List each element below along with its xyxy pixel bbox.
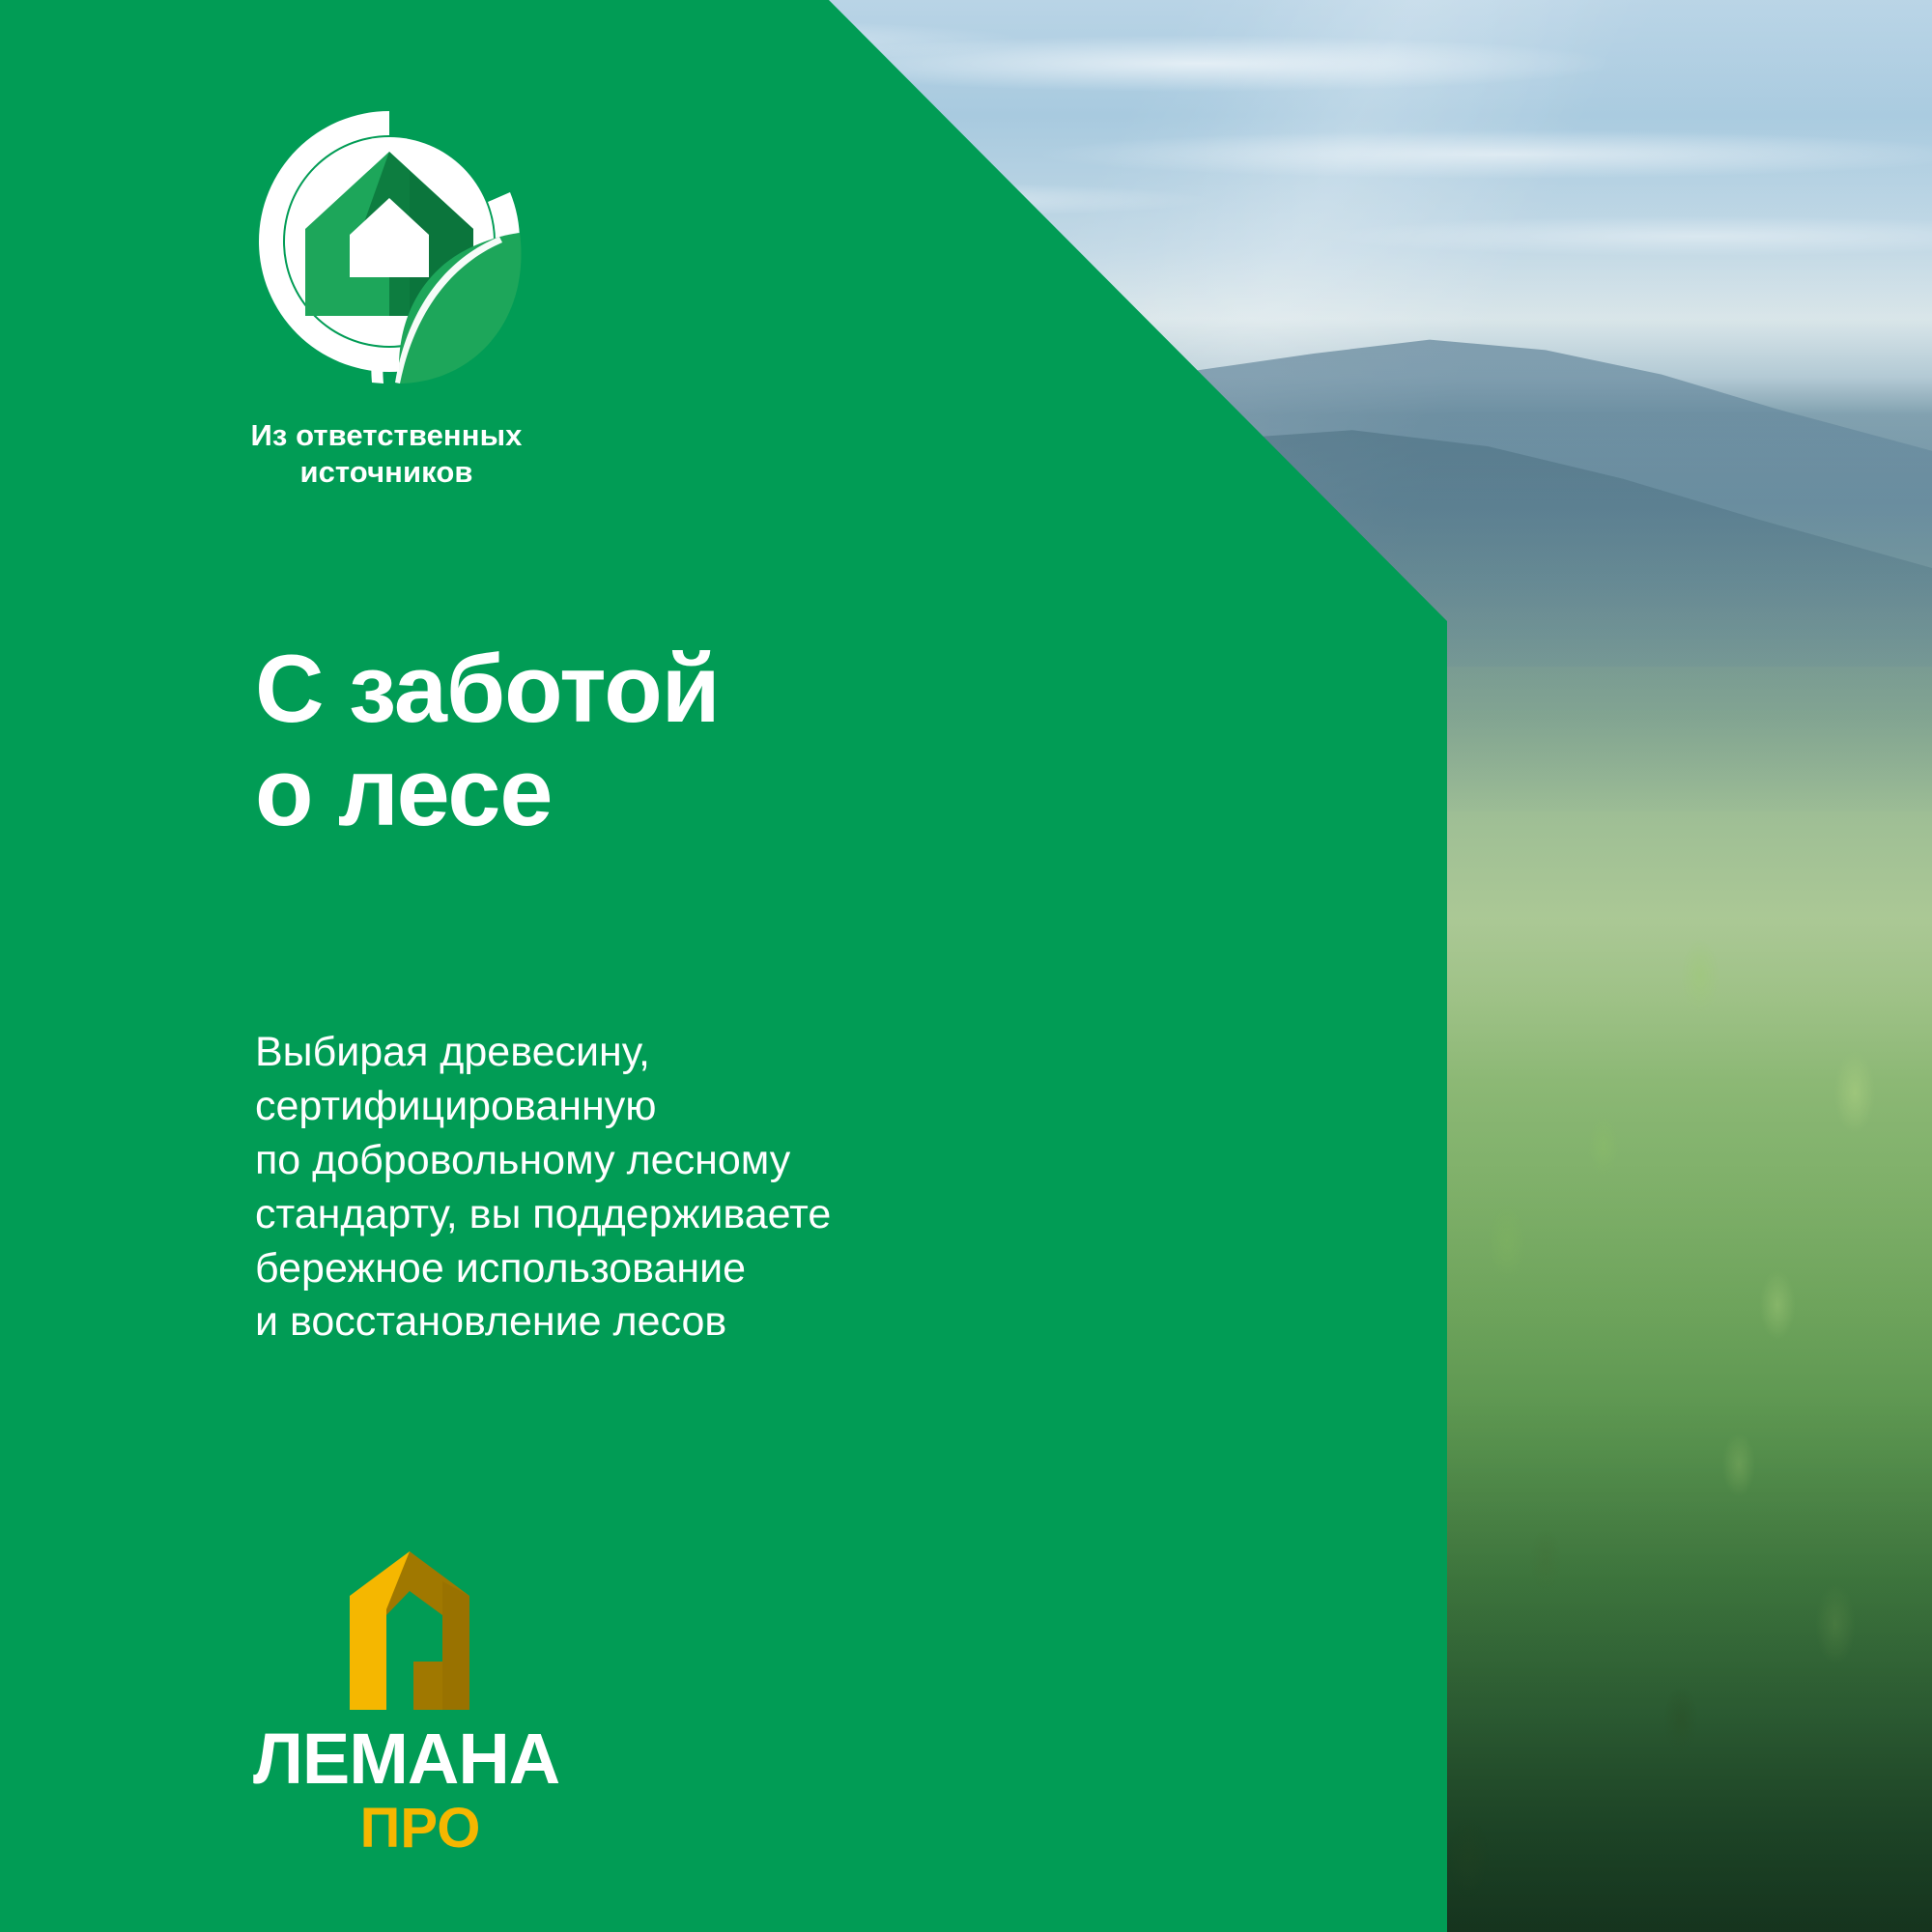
page-title: С заботой о лесе xyxy=(255,638,720,844)
eco-certification-badge xyxy=(249,101,529,391)
brand-name: ЛЕМАНА xyxy=(253,1723,601,1795)
house-leaf-circle-icon xyxy=(249,101,529,391)
brand-sub-label: ПРО xyxy=(253,1801,601,1857)
body-paragraph: Выбирая древесину, сертифицированную по … xyxy=(255,1026,831,1350)
brand-logo: ЛЕМАНА ПРО xyxy=(253,1546,601,1857)
poster-canvas: Из ответственных источников С заботой о … xyxy=(0,0,1932,1932)
house-roof-icon xyxy=(253,1546,601,1710)
eco-badge-caption: Из ответственных источников xyxy=(184,417,589,491)
